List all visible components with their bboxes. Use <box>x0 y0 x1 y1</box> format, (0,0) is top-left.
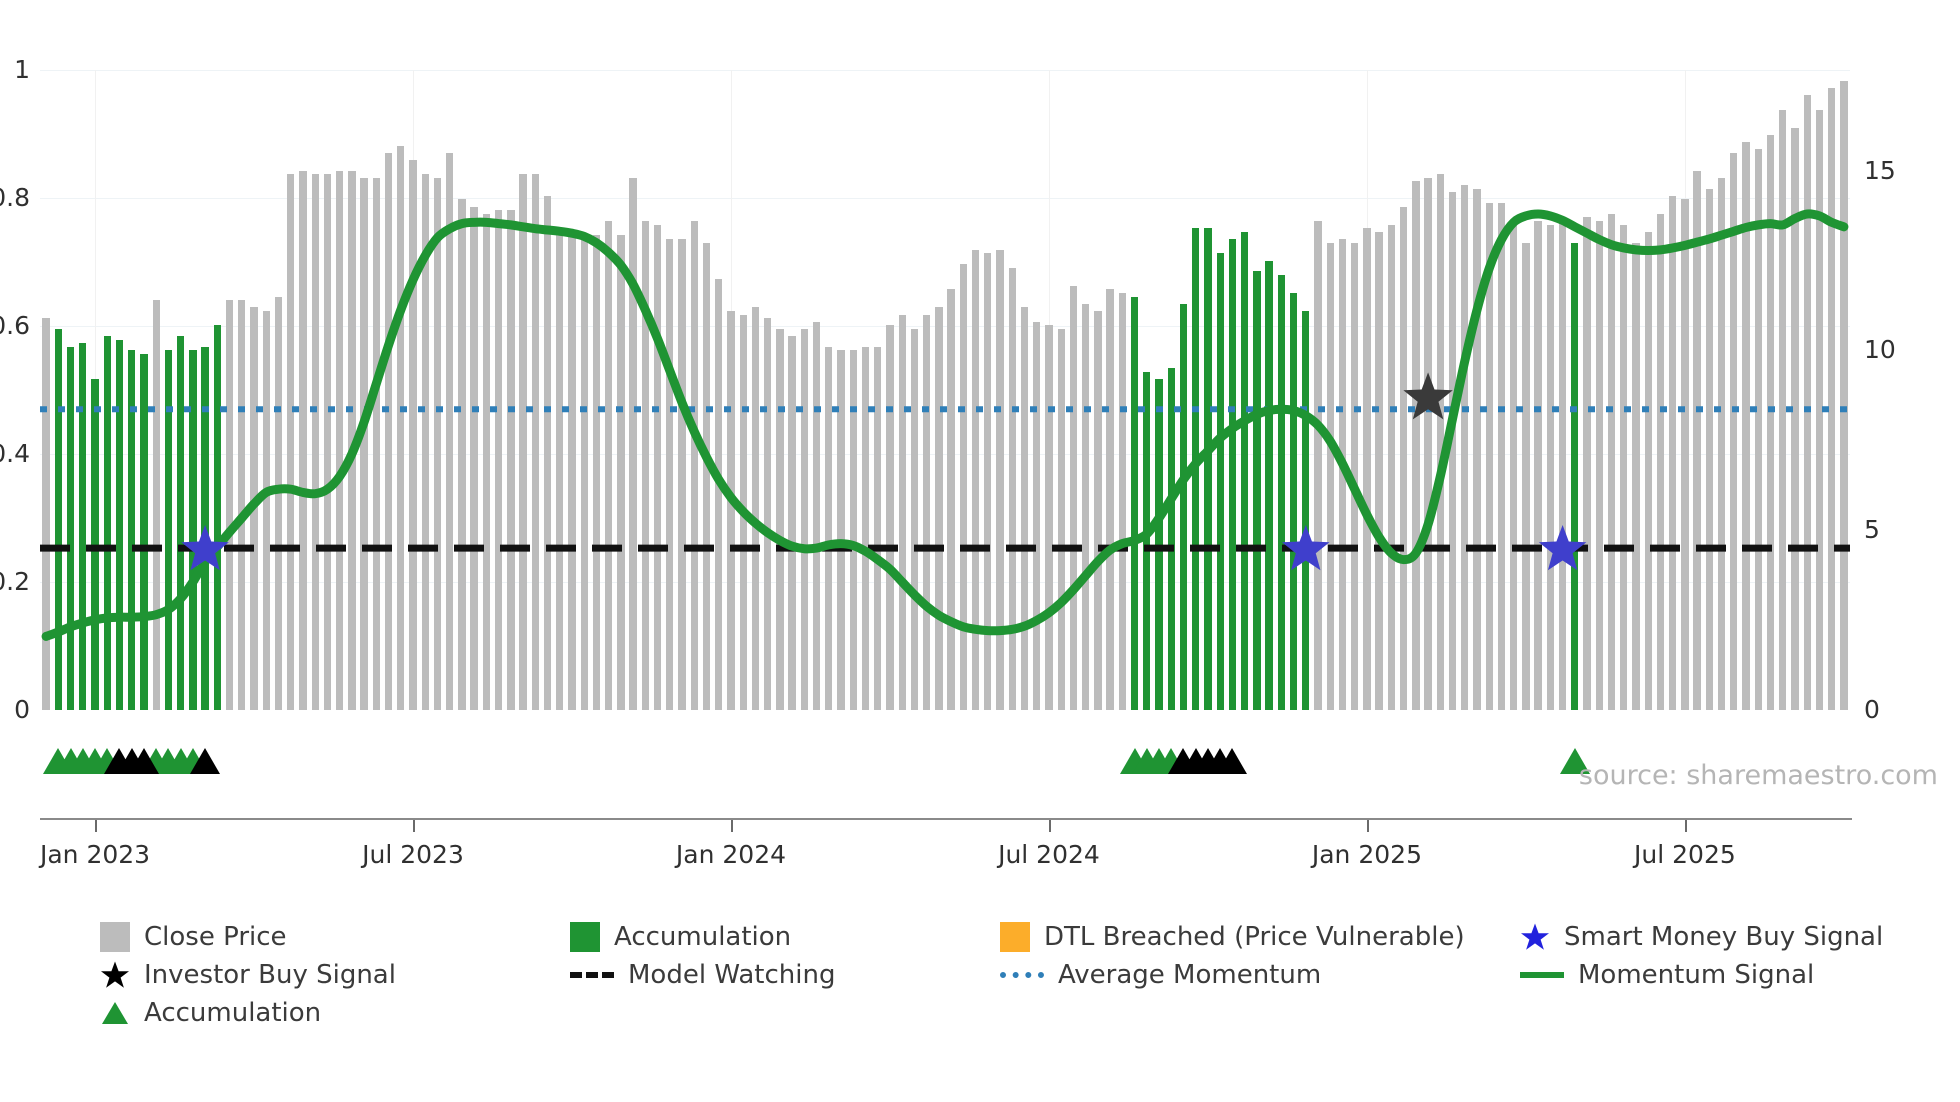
y-axis-right-tick: 5 <box>1864 517 1880 542</box>
y-axis-left-tick: 0.8 <box>0 185 30 210</box>
source-attribution: source: sharemaestro.com <box>1579 760 1938 791</box>
legend-item-label: Close Price <box>144 924 287 950</box>
legend-item[interactable]: Accumulation <box>100 998 570 1028</box>
legend-item[interactable]: Momentum Signal <box>1520 962 1920 988</box>
investor-buy-triangle-icon <box>129 748 159 774</box>
y-axis-right-tick: 0 <box>1864 697 1880 722</box>
x-axis-tick-label: Jul 2025 <box>1634 842 1736 867</box>
x-axis-tick-mark <box>1049 820 1051 832</box>
x-axis-tick-label: Jul 2023 <box>362 842 464 867</box>
series-overlay <box>40 70 1850 710</box>
x-axis-tick-label: Jan 2024 <box>676 842 786 867</box>
x-axis-line <box>40 818 1852 820</box>
legend-item-label: Smart Money Buy Signal <box>1564 924 1883 950</box>
x-axis-tick-mark <box>1367 820 1369 832</box>
x-axis-tick-label: Jan 2025 <box>1312 842 1422 867</box>
dashed-line-black-icon <box>570 972 614 978</box>
legend-item[interactable]: Model Watching <box>570 962 1000 988</box>
triangle-green-icon <box>100 998 130 1028</box>
x-axis-tick-mark <box>413 820 415 832</box>
y-axis-right-tick: 10 <box>1864 337 1896 362</box>
x-axis-tick-mark <box>95 820 97 832</box>
investor-buy-triangle-icon <box>1217 748 1247 774</box>
legend-item-label: Investor Buy Signal <box>144 962 396 988</box>
investor-buy-signal-star-icon <box>1403 372 1452 419</box>
legend-item[interactable]: Investor Buy Signal <box>100 960 570 990</box>
legend-item[interactable]: Average Momentum <box>1000 962 1520 988</box>
dashed-line <box>570 972 614 978</box>
y-axis-left-tick: 0 <box>14 697 30 722</box>
momentum-signal-line <box>46 214 1844 637</box>
momentum-accumulation-chart: 00.20.40.60.81 051015 Jan 2023Jul 2023Ja… <box>0 0 1960 1102</box>
y-axis-left-tick: 0.6 <box>0 313 30 338</box>
investor-buy-triangle-icon <box>190 748 220 774</box>
legend-item-label: Accumulation <box>144 1000 321 1026</box>
smart-money-buy-signal-star-icon <box>1539 525 1587 570</box>
y-axis-left-tick: 0.4 <box>0 441 30 466</box>
dotted-line-blue-icon <box>1000 972 1044 978</box>
star-blue-icon <box>1520 922 1550 952</box>
legend-item[interactable]: Close Price <box>100 922 570 952</box>
y-axis-left-tick: 0.2 <box>0 569 30 594</box>
legend-item-label: Average Momentum <box>1058 962 1321 988</box>
star-black-icon <box>100 960 130 990</box>
smart-money-buy-signal-star-icon <box>1282 525 1330 570</box>
legend-item[interactable]: Smart Money Buy Signal <box>1520 922 1920 952</box>
solid-line <box>1520 972 1564 978</box>
y-axis-left-tick: 1 <box>14 57 30 82</box>
x-axis-tick-label: Jan 2023 <box>40 842 150 867</box>
square-green-icon <box>570 922 600 952</box>
x-axis-tick-label: Jul 2024 <box>998 842 1100 867</box>
y-axis-right-tick: 15 <box>1864 158 1896 183</box>
legend-item-label: Model Watching <box>628 962 835 988</box>
solid-line-green-icon <box>1520 972 1564 978</box>
legend-item-label: Momentum Signal <box>1578 962 1814 988</box>
legend-item[interactable]: Accumulation <box>570 922 1000 952</box>
square-gray-icon <box>100 922 130 952</box>
legend-item[interactable]: DTL Breached (Price Vulnerable) <box>1000 922 1520 952</box>
plot-area <box>40 70 1850 710</box>
x-axis-tick-mark <box>731 820 733 832</box>
chart-legend: Close PriceAccumulationDTL Breached (Pri… <box>100 918 1930 1032</box>
square-orange-icon <box>1000 922 1030 952</box>
legend-item-label: Accumulation <box>614 924 791 950</box>
dotted-line <box>1000 972 1044 978</box>
x-axis-tick-mark <box>1685 820 1687 832</box>
legend-item-label: DTL Breached (Price Vulnerable) <box>1044 924 1465 950</box>
